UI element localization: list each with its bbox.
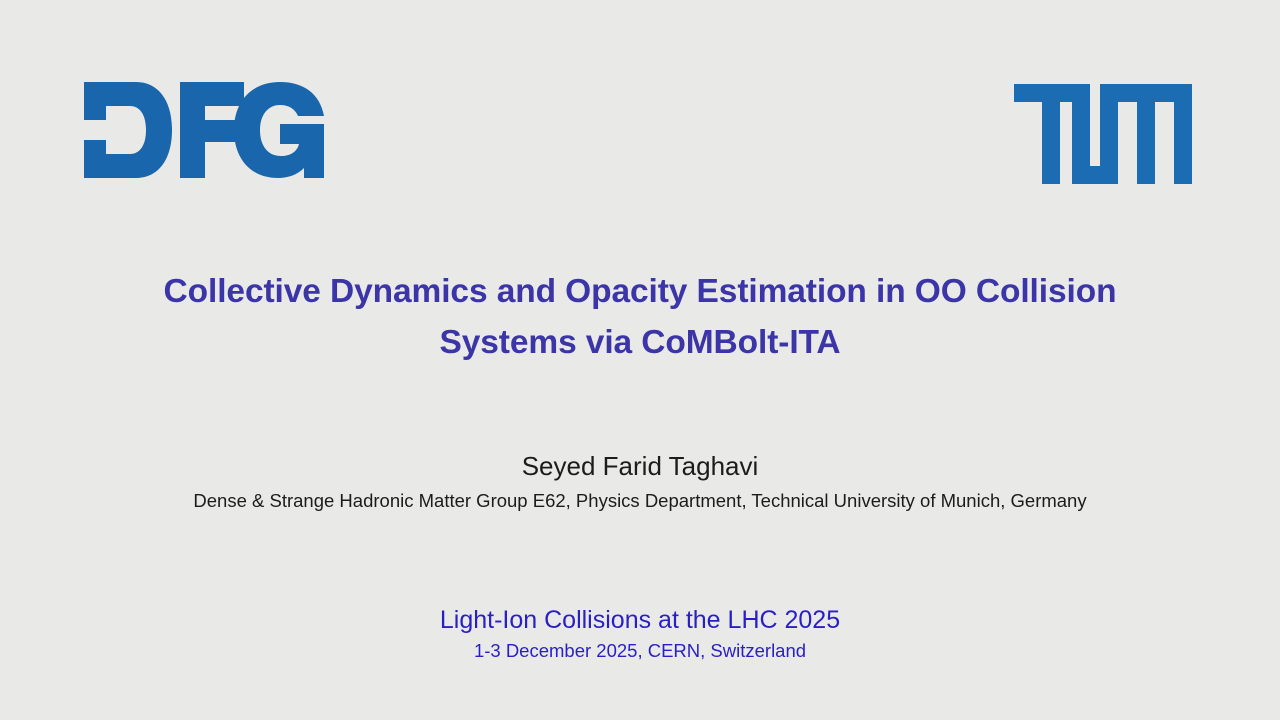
author-name: Seyed Farid Taghavi xyxy=(0,448,1280,484)
presentation-title-slide: Collective Dynamics and Opacity Estimati… xyxy=(0,0,1280,720)
conference-block: Light-Ion Collisions at the LHC 2025 1-3… xyxy=(0,604,1280,664)
conference-details: 1-3 December 2025, CERN, Switzerland xyxy=(0,637,1280,664)
author-affiliation: Dense & Strange Hadronic Matter Group E6… xyxy=(0,486,1280,516)
dfg-logo xyxy=(84,82,324,178)
slide-title: Collective Dynamics and Opacity Estimati… xyxy=(0,266,1280,368)
author-block: Seyed Farid Taghavi Dense & Strange Hadr… xyxy=(0,448,1280,516)
tum-logo xyxy=(1012,84,1192,184)
title-line-1: Collective Dynamics and Opacity Estimati… xyxy=(70,266,1210,317)
logo-row xyxy=(0,0,1280,210)
conference-name: Light-Ion Collisions at the LHC 2025 xyxy=(0,604,1280,637)
title-line-2: Systems via CoMBolt-ITA xyxy=(70,317,1210,368)
